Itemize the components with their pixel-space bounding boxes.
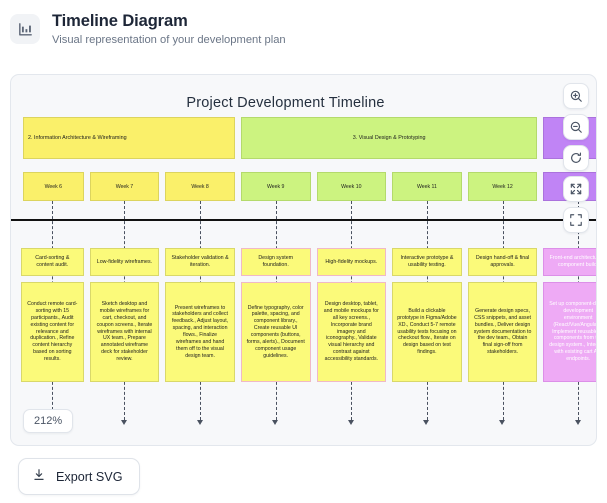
frame-icon[interactable] bbox=[563, 207, 589, 233]
week-cell[interactable]: Week 10 bbox=[317, 172, 387, 201]
connector-arrow-icon bbox=[272, 420, 278, 425]
footer: Export SVG bbox=[0, 446, 607, 495]
expand-icon[interactable] bbox=[563, 176, 589, 202]
diagram-canvas[interactable]: Project Development Timeline 2. Informat… bbox=[11, 75, 596, 445]
reset-icon[interactable] bbox=[563, 145, 589, 171]
task-detail-card[interactable]: Design desktop, tablet, and mobile mocku… bbox=[317, 282, 387, 382]
task-detail-card[interactable]: Build a clickable prototype in Figma/Ado… bbox=[392, 282, 462, 382]
diagram-title: Project Development Timeline bbox=[11, 95, 596, 111]
export-svg-button[interactable]: Export SVG bbox=[18, 458, 140, 495]
phase-bar[interactable]: 2. Information Architecture & Wireframin… bbox=[23, 117, 235, 159]
phase-label: 3. Visual Design & Prototyping bbox=[242, 135, 537, 141]
download-icon bbox=[32, 468, 46, 485]
task-title-card[interactable]: Front-end architecture & component build… bbox=[543, 248, 597, 276]
week-cell[interactable]: Week 9 bbox=[241, 172, 311, 201]
task-title: Interactive prototype & usability testin… bbox=[397, 255, 457, 269]
task-detail-card[interactable]: Define typography, color palette, spacin… bbox=[241, 282, 311, 382]
week-label: Week 7 bbox=[116, 184, 134, 190]
task-title: Design hand-off & final approvals. bbox=[473, 255, 533, 269]
task-detail: Conduct remote card-sorting with 15 part… bbox=[26, 301, 79, 363]
task-detail: Present wireframes to stakeholders and c… bbox=[170, 305, 230, 360]
week-cell[interactable]: Week 6 bbox=[23, 172, 84, 201]
task-title-card[interactable]: Card-sorting & content audit. bbox=[21, 248, 84, 276]
phase-bar[interactable]: 3. Visual Design & Prototyping bbox=[241, 117, 538, 159]
week-cell[interactable]: Week 12 bbox=[468, 172, 538, 201]
week-label: Week 8 bbox=[191, 184, 209, 190]
timeline-axis bbox=[11, 219, 596, 221]
task-detail-card[interactable]: Present wireframes to stakeholders and c… bbox=[165, 282, 235, 382]
zoom-out-icon[interactable] bbox=[563, 114, 589, 140]
task-title-card[interactable]: Design hand-off & final approvals. bbox=[468, 248, 538, 276]
connector-arrow-icon bbox=[121, 420, 127, 425]
task-title: Stakeholder validation & iteration. bbox=[170, 255, 230, 269]
connector-arrow-icon bbox=[499, 420, 505, 425]
task-detail: Build a clickable prototype in Figma/Ado… bbox=[397, 308, 457, 356]
bar-chart-icon bbox=[10, 14, 40, 44]
task-detail: Sketch desktop and mobile wireframes for… bbox=[95, 301, 155, 363]
task-title: Front-end architecture & component build… bbox=[548, 255, 597, 269]
page-subtitle: Visual representation of your developmen… bbox=[52, 34, 286, 47]
week-header-row: Week 6Week 7Week 8Week 9Week 10Week 11We… bbox=[11, 172, 596, 201]
page-header: Timeline Diagram Visual representation o… bbox=[0, 0, 607, 62]
task-title: Card-sorting & content audit. bbox=[26, 255, 79, 269]
week-label: Week 9 bbox=[267, 184, 285, 190]
week-label: Week 12 bbox=[492, 184, 512, 190]
task-title-card[interactable]: Interactive prototype & usability testin… bbox=[392, 248, 462, 276]
task-title-card[interactable]: Stakeholder validation & iteration. bbox=[165, 248, 235, 276]
zoom-in-icon[interactable] bbox=[563, 83, 589, 109]
page-title: Timeline Diagram bbox=[52, 12, 286, 31]
diagram-container[interactable]: Project Development Timeline 2. Informat… bbox=[10, 74, 597, 446]
task-title-card[interactable]: High-fidelity mockups. bbox=[317, 248, 387, 276]
task-detail-card[interactable]: Conduct remote card-sorting with 15 part… bbox=[21, 282, 84, 382]
task-detail-card[interactable]: Sketch desktop and mobile wireframes for… bbox=[90, 282, 160, 382]
task-detail-card[interactable]: Set up component-driven development envi… bbox=[543, 282, 597, 382]
zoom-level-badge: 212% bbox=[23, 409, 73, 433]
task-title-card[interactable]: Design system foundation. bbox=[241, 248, 311, 276]
week-cell[interactable]: Week 11 bbox=[392, 172, 462, 201]
task-detail: Set up component-driven development envi… bbox=[548, 301, 597, 363]
task-title: Design system foundation. bbox=[246, 255, 306, 269]
diagram-controls bbox=[563, 83, 589, 233]
task-title: High-fidelity mockups. bbox=[322, 259, 382, 266]
task-detail: Define typography, color palette, spacin… bbox=[246, 305, 306, 360]
task-title: Low-fidelity wireframes. bbox=[95, 259, 155, 266]
task-detail: Generate design specs, CSS snippets, and… bbox=[473, 308, 533, 356]
connector-arrow-icon bbox=[423, 420, 429, 425]
task-detail: Design desktop, tablet, and mobile mocku… bbox=[322, 301, 382, 363]
phase-bar-row: 2. Information Architecture & Wireframin… bbox=[11, 117, 596, 159]
week-label: Week 10 bbox=[341, 184, 361, 190]
task-detail-card[interactable]: Generate design specs, CSS snippets, and… bbox=[468, 282, 538, 382]
phase-label: 2. Information Architecture & Wireframin… bbox=[24, 135, 234, 141]
connector-arrow-icon bbox=[575, 420, 581, 425]
week-cell[interactable]: Week 8 bbox=[165, 172, 235, 201]
week-label: Week 6 bbox=[45, 184, 63, 190]
export-svg-label: Export SVG bbox=[56, 470, 123, 484]
week-label: Week 11 bbox=[417, 184, 437, 190]
connector-arrow-icon bbox=[197, 420, 203, 425]
connector-arrow-icon bbox=[348, 420, 354, 425]
week-cell[interactable]: Week 7 bbox=[90, 172, 160, 201]
task-title-card[interactable]: Low-fidelity wireframes. bbox=[90, 248, 160, 276]
